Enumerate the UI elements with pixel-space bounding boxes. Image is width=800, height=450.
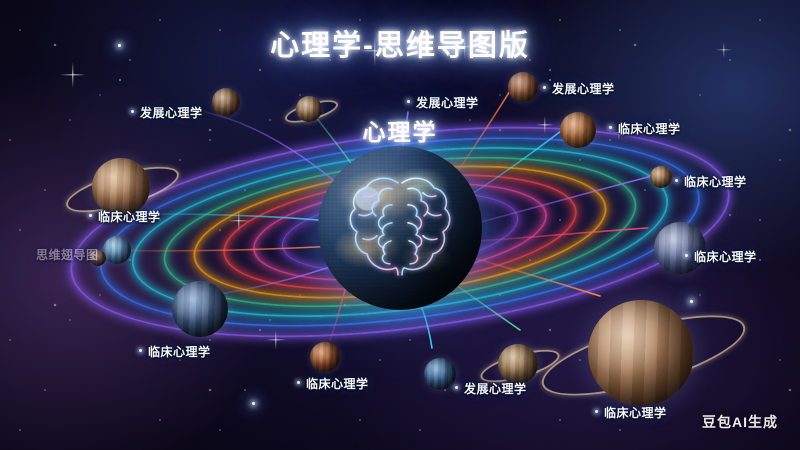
node-connector-dot — [455, 386, 458, 389]
node-connector-dot — [139, 349, 142, 352]
node-connector-dot — [543, 86, 546, 89]
planet-body — [172, 281, 228, 337]
node-label-top-center[interactable]: 发展心理学 — [416, 94, 479, 111]
node-connector-dot — [297, 381, 300, 384]
node-label-far-left[interactable]: 思维翅导图 — [36, 246, 99, 263]
central-globe — [318, 146, 482, 310]
planet-body — [424, 358, 456, 390]
star — [252, 402, 255, 405]
sparkle — [60, 62, 86, 88]
planet-rust-top-right — [508, 72, 538, 102]
watermark: 豆包AI生成 — [702, 412, 778, 432]
planet-rock-upper-left — [212, 88, 240, 116]
planet-body — [588, 300, 694, 406]
planet-small-right-mid — [650, 166, 672, 188]
planet-body — [508, 72, 538, 102]
node-label-bottom-left[interactable]: 临床心理学 — [306, 375, 369, 392]
node-label-upper-left[interactable]: 发展心理学 — [140, 104, 203, 121]
node-connector-dot — [685, 254, 688, 257]
node-connector-dot — [609, 126, 612, 129]
planet-blue-planet-lower-left — [172, 281, 228, 337]
planet-body — [310, 342, 340, 372]
node-connector-dot — [675, 179, 678, 182]
node-label-lower-left[interactable]: 临床心理学 — [148, 343, 211, 360]
planet-body — [498, 344, 538, 384]
node-label-bottom-right[interactable]: 发展心理学 — [464, 380, 527, 397]
node-label-right-mid[interactable]: 临床心理学 — [684, 173, 747, 190]
planet-ice-planet-left — [103, 236, 131, 264]
planet-mars-bottom-center — [310, 342, 340, 372]
page-title: 心理学-思维导图版 — [0, 22, 800, 64]
node-label-right-lower[interactable]: 临床心理学 — [694, 248, 757, 265]
planet-body — [103, 236, 131, 264]
planet-body — [650, 166, 672, 188]
node-connector-dot — [131, 110, 134, 113]
node-label-lower-right[interactable]: 临床心理学 — [604, 404, 667, 421]
planet-jupiter-bottom-right — [588, 300, 694, 406]
planet-body — [212, 88, 240, 116]
planet-earth-bottom — [424, 358, 456, 390]
star — [690, 300, 693, 303]
node-label-upper-right[interactable]: 发展心理学 — [552, 80, 615, 97]
node-connector-dot — [595, 410, 598, 413]
node-connector-dot — [407, 100, 410, 103]
brain-icon — [340, 169, 460, 285]
mind-map-poster: 心理学-思维导图版 心理学 发展心理学临床心理学思维翅导图临床心理学临床心理学发… — [0, 0, 800, 450]
planet-saturn-bottom-right — [498, 344, 538, 384]
node-label-right-upper[interactable]: 临床心理学 — [618, 120, 681, 137]
node-connector-dot — [89, 214, 92, 217]
node-label-left[interactable]: 临床心理学 — [98, 208, 161, 225]
